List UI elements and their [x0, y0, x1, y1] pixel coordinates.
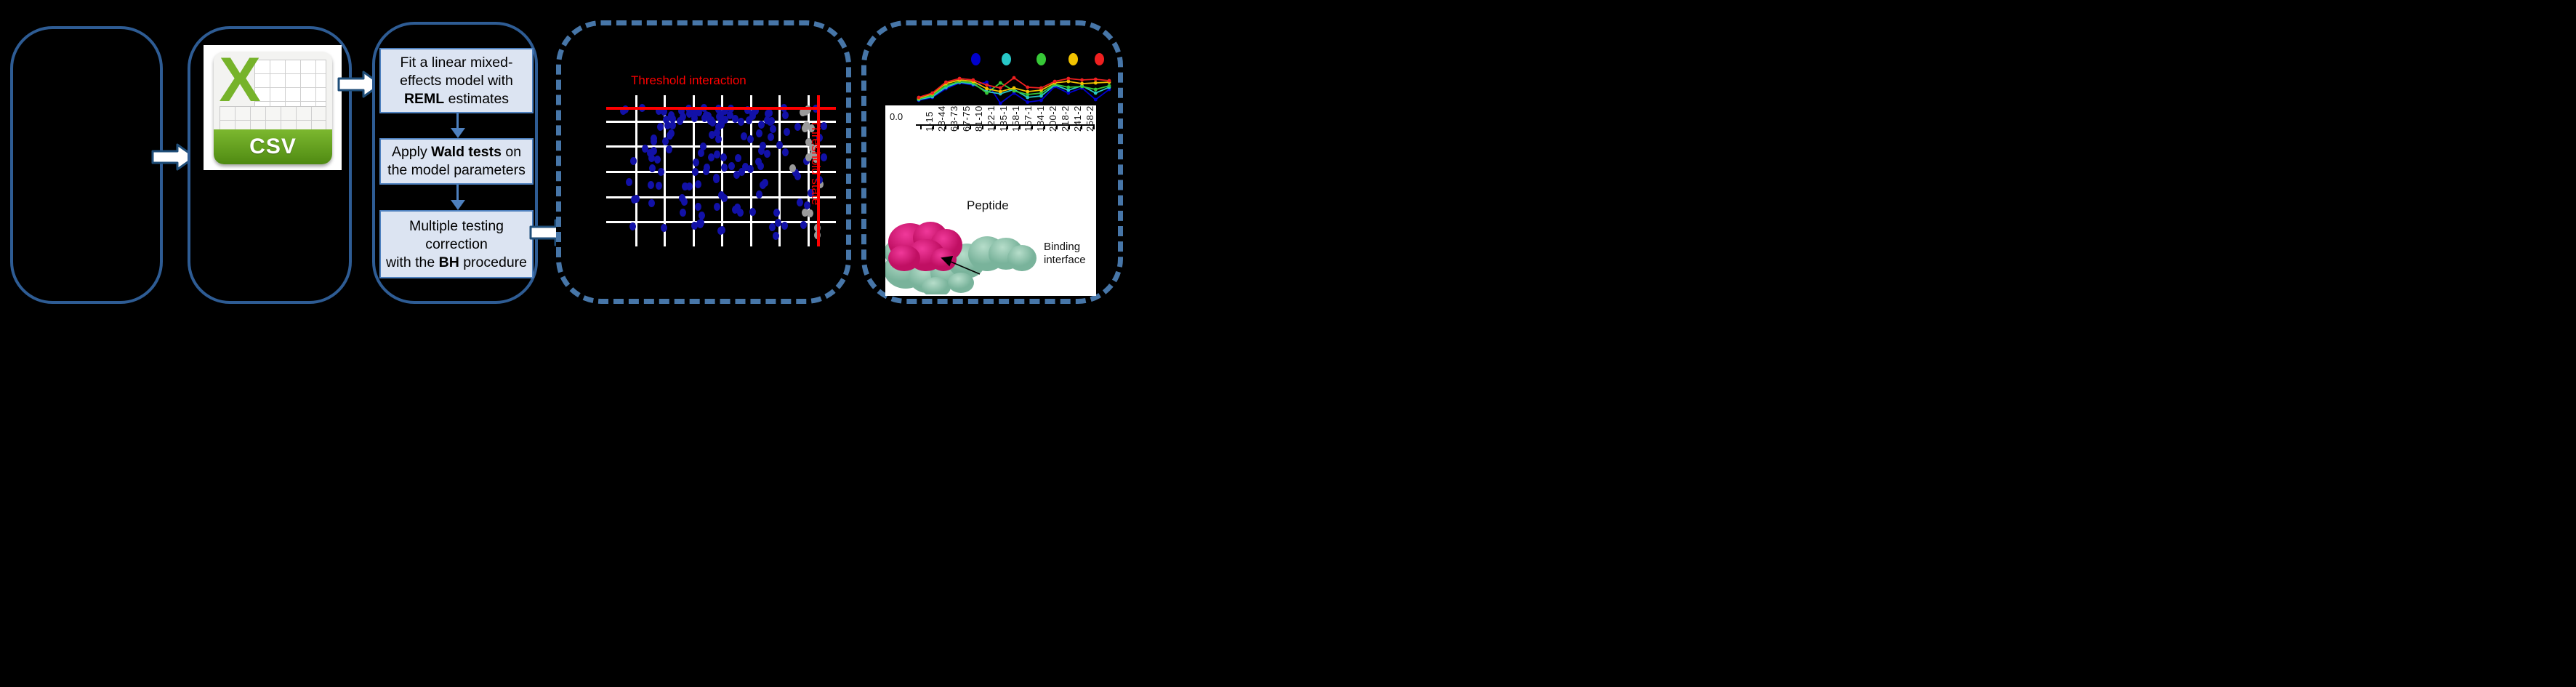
scatter-point-significant: [797, 198, 803, 206]
scatter-point-significant: [657, 123, 664, 131]
peptide-line-chart: [885, 44, 1112, 88]
scatter-point-significant: [764, 150, 770, 158]
threshold-interaction-label: Threshold interaction: [631, 73, 746, 88]
scatter-point-significant: [784, 128, 790, 136]
scatter-point-significant: [773, 209, 780, 217]
x-tick: [945, 124, 946, 129]
scatter-point-significant: [698, 149, 704, 157]
fit-model-text: Fit a linear mixed-effects model with RE…: [384, 54, 529, 108]
scatter-point-significant: [721, 194, 728, 202]
scatter-point-significant: [663, 116, 669, 124]
marker-blue: [1039, 99, 1043, 103]
grid-line-horizontal: [606, 145, 836, 148]
scatter-point-significant: [781, 222, 788, 230]
scatter-point-significant: [776, 141, 783, 149]
marker-red: [1094, 78, 1098, 81]
x-tick: [1007, 124, 1008, 129]
scatter-point-significant: [800, 221, 807, 229]
scatter-point-significant: [695, 203, 701, 211]
scatter-point-significant: [629, 222, 636, 230]
csv-icon-plate: X CSV: [204, 45, 342, 170]
excel-x-glyph: X: [217, 53, 263, 107]
scatter-point-significant: [721, 164, 728, 172]
csv-label: CSV: [249, 134, 297, 159]
scatter-point-significant: [695, 180, 701, 188]
grid-line-horizontal: [606, 171, 836, 173]
marker-yellow: [985, 87, 989, 91]
scatter-point-significant: [768, 117, 775, 125]
scatter-point-significant: [727, 111, 733, 119]
scatter-point-significant: [715, 135, 722, 143]
csv-data-panel: X CSV: [188, 26, 352, 304]
scatter-point-significant: [703, 111, 709, 119]
scatter-point-significant: [741, 132, 747, 140]
fit-model-box: Fit a linear mixed-effects model with RE…: [379, 48, 534, 113]
scatter-point-significant: [661, 224, 667, 232]
x-tick: [970, 124, 971, 129]
marker-yellow: [1013, 87, 1016, 90]
marker-green: [1108, 84, 1111, 88]
marker-red: [1026, 86, 1029, 89]
scatter-point-significant: [658, 168, 664, 176]
statistics-panel: Fit a linear mixed-effects model with RE…: [372, 22, 538, 304]
connector-2: [456, 185, 459, 201]
scatter-results-panel: Threshold interaction Threshold state: [556, 20, 851, 304]
x-tick: [1081, 124, 1082, 129]
scatter-point-significant: [757, 162, 764, 170]
marker-green: [999, 81, 1002, 85]
scatter-point-significant: [782, 111, 789, 119]
marker-blue: [1094, 98, 1098, 102]
scatter-point-significant: [734, 204, 741, 212]
marker-red: [999, 87, 1002, 90]
marker-yellow: [1094, 81, 1098, 85]
marker-red: [1013, 76, 1016, 80]
x-tick: [920, 124, 922, 129]
scatter-point-significant: [768, 133, 774, 141]
scatter-point-significant: [667, 132, 673, 140]
figure-canvas: X CSV Fit a linear mixed-effects model w…: [0, 0, 2576, 687]
marker-cyan: [1094, 92, 1098, 95]
scatter-point-significant: [681, 198, 688, 206]
scatter-point-significant: [728, 162, 735, 170]
scatter-point-significant: [782, 148, 789, 156]
scatter-point-significant: [633, 195, 640, 203]
scatter-point-significant: [747, 135, 754, 143]
connector-2-arrowhead: [451, 200, 465, 210]
scatter-point-significant: [756, 129, 762, 137]
scatter-point-significant: [700, 142, 707, 150]
marker-red: [930, 92, 934, 95]
protein-structure-image: [885, 216, 1054, 294]
scatter-plot: [606, 95, 836, 246]
scatter-point-significant: [715, 123, 722, 131]
marker-red: [917, 96, 921, 100]
multiple-testing-text: Multiple testing correctionwith the BH p…: [384, 217, 529, 272]
x-tick: [1056, 124, 1058, 129]
scatter-point-significant: [720, 153, 727, 161]
marker-red: [958, 77, 962, 81]
scatter-point-significant: [692, 168, 699, 176]
scatter-point-significant: [719, 226, 725, 234]
marker-blue: [999, 102, 1002, 105]
marker-yellow: [999, 90, 1002, 94]
marker-red: [1066, 77, 1070, 81]
scatter-point-significant: [708, 153, 715, 161]
x-tick: [1093, 124, 1095, 129]
binding-interface-annotation: Binding interface: [1044, 241, 1095, 267]
scatter-point-significant: [686, 110, 693, 118]
scatter-point-significant: [656, 182, 662, 190]
scatter-point-significant: [649, 164, 656, 172]
marker-red: [1039, 87, 1043, 90]
wald-tests-box: Apply Wald tests on the model parameters: [379, 138, 534, 185]
structure-results-panel: 0.0 1-1528-4463-7367-7581-101122-129135-…: [861, 20, 1123, 304]
marker-red: [985, 84, 989, 87]
x-tick: [994, 124, 996, 129]
scatter-point-significant: [713, 174, 720, 182]
scatter-point-significant: [749, 208, 756, 216]
x-tick: [933, 124, 934, 129]
marker-red: [944, 81, 948, 84]
line-series-group: [885, 63, 1112, 107]
x-tick: [957, 124, 959, 129]
marker-yellow: [1026, 90, 1029, 94]
scatter-point-significant: [703, 167, 709, 175]
scatter-point-significant: [738, 168, 745, 176]
scatter-point-significant: [738, 118, 744, 126]
scatter-point-significant: [654, 156, 661, 164]
scatter-point-significant: [735, 154, 741, 162]
marker-green: [1094, 88, 1098, 92]
connector-1: [456, 113, 459, 129]
marker-red: [971, 79, 975, 82]
scatter-point-significant: [647, 149, 653, 157]
scatter-point-significant: [760, 181, 766, 189]
scatter-point-significant: [693, 158, 699, 166]
input-panel: [10, 26, 163, 304]
scatter-point-significant: [746, 116, 752, 124]
scatter-point-significant: [648, 181, 654, 189]
scatter-point-significant: [756, 190, 762, 198]
marker-blue: [1026, 100, 1029, 104]
marker-red: [1108, 79, 1111, 83]
marker-red: [1080, 79, 1084, 82]
csv-file-icon: X CSV: [214, 52, 332, 164]
threshold-state-label: Threshold state: [808, 120, 823, 205]
scatter-point-significant: [626, 178, 632, 186]
connector-1-arrowhead: [451, 128, 465, 138]
threshold-interaction-line: [606, 107, 836, 110]
x-tick: [1031, 124, 1033, 129]
x-tick: [1019, 124, 1021, 129]
multiple-testing-box: Multiple testing correctionwith the BH p…: [379, 210, 534, 278]
scatter-point-significant: [714, 203, 720, 211]
x-tick: [982, 124, 983, 129]
marker-green: [985, 92, 989, 95]
marker-yellow: [1080, 82, 1084, 86]
scatter-point-significant: [714, 150, 720, 158]
scatter-point-significant: [666, 145, 672, 153]
x-tick: [1044, 124, 1045, 129]
peptide-chart-card: 0.0 1-1528-4463-7367-7581-101122-129135-…: [885, 105, 1096, 296]
y-axis-tick-0: 0.0: [890, 111, 903, 122]
x-axis-title: Peptide: [967, 198, 1009, 213]
marker-green: [1066, 86, 1070, 89]
marker-red: [1053, 80, 1057, 84]
wald-tests-text: Apply Wald tests on the model parameters: [384, 143, 529, 180]
csv-label-band: CSV: [214, 129, 332, 164]
scatter-point-significant: [794, 123, 801, 131]
scatter-point-significant: [680, 209, 686, 217]
scatter-point-significant: [648, 199, 655, 207]
x-tick: [1068, 124, 1070, 129]
scatter-point-significant: [770, 125, 776, 133]
scatter-point-significant: [758, 147, 765, 155]
